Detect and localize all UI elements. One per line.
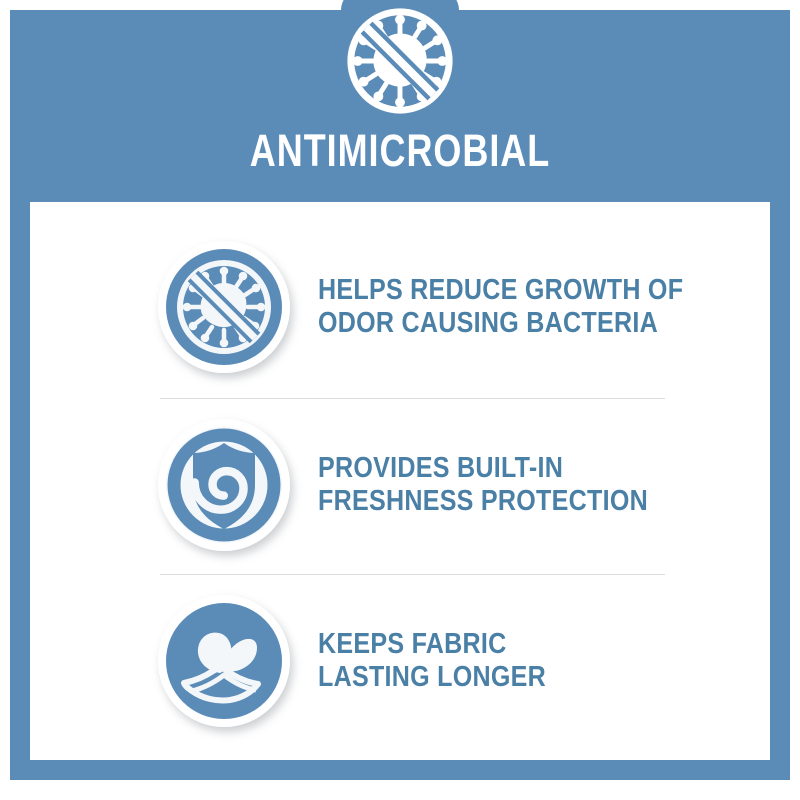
feature-text: HELPS REDUCE GROWTH OF ODOR CAUSING BACT…: [318, 274, 683, 340]
header-band: ANTIMICROBIAL: [10, 10, 790, 202]
row-divider: [160, 398, 665, 399]
feature-text: KEEPS FABRIC LASTING LONGER: [318, 628, 546, 694]
feature-text: PROVIDES BUILT-IN FRESHNESS PROTECTION: [318, 452, 648, 518]
feature-row: KEEPS FABRIC LASTING LONGER: [30, 586, 770, 736]
feature-text-line2: ODOR CAUSING BACTERIA: [318, 307, 683, 340]
no-germs-badge-icon: [158, 241, 290, 373]
leaf-fabric-badge-icon: [158, 595, 290, 727]
feature-list: HELPS REDUCE GROWTH OF ODOR CAUSING BACT…: [30, 202, 770, 760]
feature-icon-wrap: [158, 419, 290, 551]
feature-text-line2: FRESHNESS PROTECTION: [318, 485, 648, 518]
page-title: ANTIMICROBIAL: [88, 126, 712, 176]
feature-row: HELPS REDUCE GROWTH OF ODOR CAUSING BACT…: [30, 232, 770, 382]
no-germs-icon: [341, 2, 459, 120]
feature-icon-wrap: [158, 595, 290, 727]
feature-text-line1: KEEPS FABRIC: [318, 628, 546, 661]
shield-swirl-badge-icon: [158, 419, 290, 551]
feature-icon-wrap: [158, 241, 290, 373]
antimicrobial-infographic: ANTIMICROBIAL: [0, 0, 800, 800]
row-divider: [160, 574, 665, 575]
feature-text-line2: LASTING LONGER: [318, 661, 546, 694]
outer-frame: ANTIMICROBIAL: [10, 10, 790, 780]
feature-text-line1: HELPS REDUCE GROWTH OF: [318, 274, 683, 307]
feature-text-line1: PROVIDES BUILT-IN: [318, 452, 648, 485]
feature-row: PROVIDES BUILT-IN FRESHNESS PROTECTION: [30, 410, 770, 560]
content-panel: HELPS REDUCE GROWTH OF ODOR CAUSING BACT…: [30, 202, 770, 760]
